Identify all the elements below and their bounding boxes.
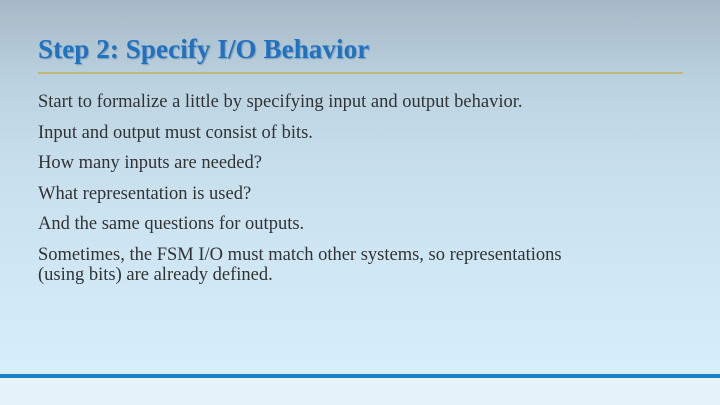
- page-title: Step 2: Specify I/O Behavior: [38, 33, 369, 65]
- bullet-paragraph: Start to formalize a little by specifyin…: [38, 92, 568, 113]
- bullet-paragraph: What representation is used?: [38, 184, 568, 205]
- bullet-paragraph: How many inputs are needed?: [38, 153, 568, 174]
- footer-bar: ECE 120: Introduction to Computing © 201…: [0, 378, 720, 405]
- title-divider: [38, 72, 683, 74]
- presentation-slide: Step 2: Specify I/O Behavior Start to fo…: [0, 0, 720, 405]
- bullet-paragraph: Input and output must consist of bits.: [38, 123, 568, 144]
- slide-body: Start to formalize a little by specifyin…: [38, 92, 568, 286]
- bullet-paragraph: And the same questions for outputs.: [38, 214, 568, 235]
- slide-title-area: Step 2: Specify I/O Behavior: [0, 0, 720, 78]
- bullet-paragraph: Sometimes, the FSM I/O must match other …: [38, 245, 568, 286]
